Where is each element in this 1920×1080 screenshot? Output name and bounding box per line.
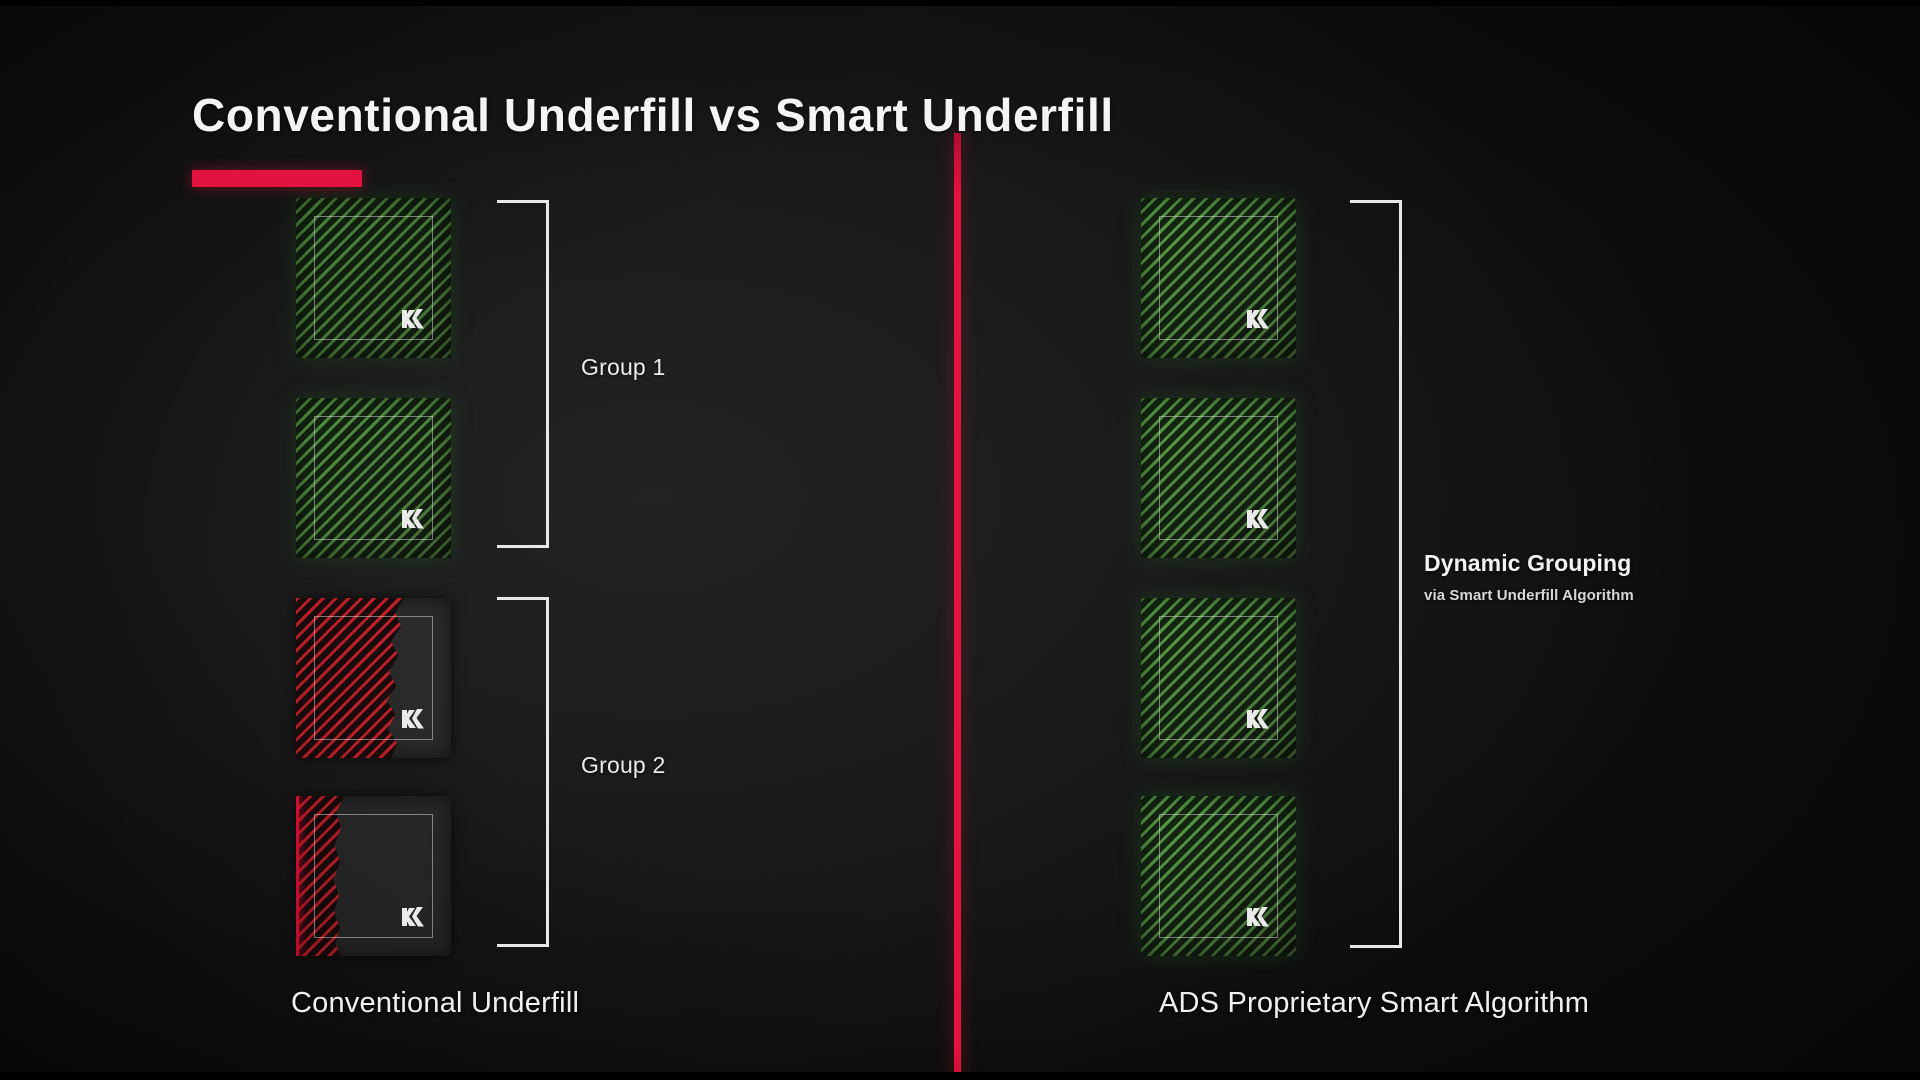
chip-inner-outline (314, 416, 433, 540)
page-title: Conventional Underfill vs Smart Underfil… (192, 88, 1114, 142)
chip-left-1[interactable] (296, 198, 451, 358)
chip-inner-outline (1159, 416, 1278, 540)
conventional-panel: Group 1 Group 2 (0, 0, 954, 1080)
bracket-group-1 (497, 200, 549, 548)
chip-left-2[interactable] (296, 398, 451, 558)
dynamic-grouping-title: Dynamic Grouping (1424, 550, 1631, 577)
k-logo-icon (1244, 304, 1274, 334)
chip-inner-outline (1159, 216, 1278, 340)
dynamic-grouping-subtitle: via Smart Underfill Algorithm (1424, 587, 1634, 604)
chip-left-3[interactable] (296, 598, 451, 758)
chip-right-1[interactable] (1141, 198, 1296, 358)
group-2-label: Group 2 (581, 752, 666, 779)
title-accent-bar (192, 170, 362, 187)
chip-left-4[interactable] (296, 796, 451, 956)
underfill-region (296, 598, 404, 758)
underfill-edge-bead (292, 793, 299, 959)
right-panel-caption: ADS Proprietary Smart Algorithm (1159, 987, 1589, 1020)
k-logo-icon (399, 902, 429, 932)
group-1-label: Group 1 (581, 354, 666, 381)
chip-right-3[interactable] (1141, 598, 1296, 758)
k-logo-icon (1244, 504, 1274, 534)
chip-inner-outline (1159, 616, 1278, 740)
center-divider (954, 133, 961, 1080)
bracket-group-2 (497, 597, 549, 947)
chip-right-4[interactable] (1141, 796, 1296, 956)
letterbox-top (0, 0, 1920, 6)
chip-inner-outline (314, 216, 433, 340)
chip-inner-outline (1159, 814, 1278, 938)
k-logo-icon (399, 504, 429, 534)
bracket-dynamic-grouping (1350, 200, 1402, 948)
smart-algorithm-panel (961, 0, 1920, 1080)
chip-right-2[interactable] (1141, 398, 1296, 558)
k-logo-icon (399, 704, 429, 734)
k-logo-icon (1244, 902, 1274, 932)
k-logo-icon (1244, 704, 1274, 734)
letterbox-bottom (0, 1072, 1920, 1080)
underfill-region (296, 796, 344, 956)
k-logo-icon (399, 304, 429, 334)
left-panel-caption: Conventional Underfill (291, 987, 579, 1020)
slide-canvas: Conventional Underfill vs Smart Underfil… (0, 0, 1920, 1080)
